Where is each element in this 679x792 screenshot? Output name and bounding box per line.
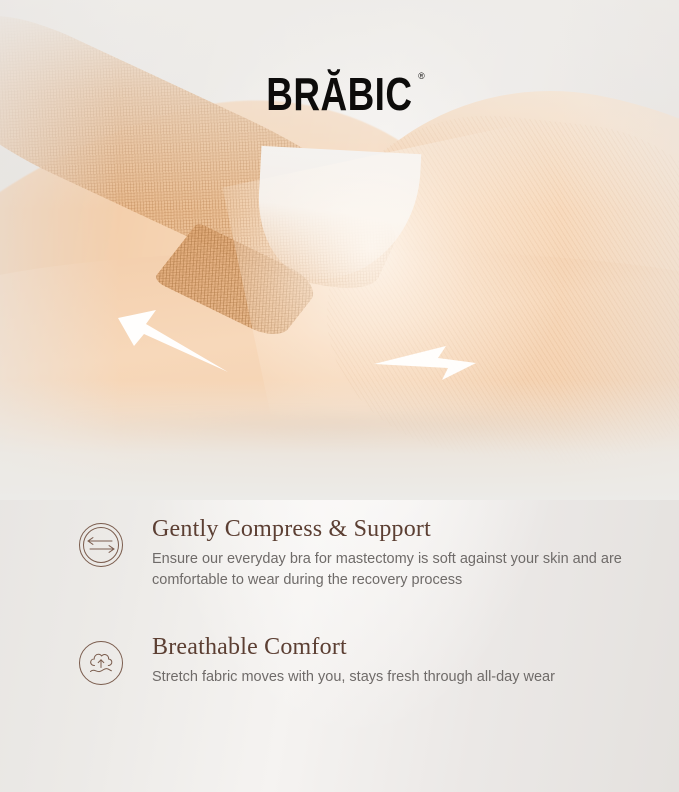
photo-bottom-fade [0,380,679,500]
product-feature-image: BRĂBIC ® Gently Compress & Support [0,0,679,792]
feature-description: Ensure our everyday bra for mastectomy i… [152,549,633,591]
stretch-arrow-left-icon [110,300,230,385]
feature-item-compress: Gently Compress & Support Ensure our eve… [0,516,679,612]
feature-title: Breathable Comfort [152,634,633,660]
feature-description: Stretch fabric moves with you, stays fre… [152,667,633,688]
feature-item-breathable: Breathable Comfort Stretch fabric moves … [0,634,679,730]
feature-title: Gently Compress & Support [152,516,633,542]
brand-logo: BRĂBIC ® [0,72,679,110]
brand-name: BRĂBIC [266,70,412,121]
stretch-arrow-right-icon [372,338,482,391]
breathable-cloud-icon [78,640,124,686]
compress-arrows-icon [78,522,124,568]
feature-list: Gently Compress & Support Ensure our eve… [0,516,679,730]
registered-trademark-symbol: ® [418,72,425,81]
